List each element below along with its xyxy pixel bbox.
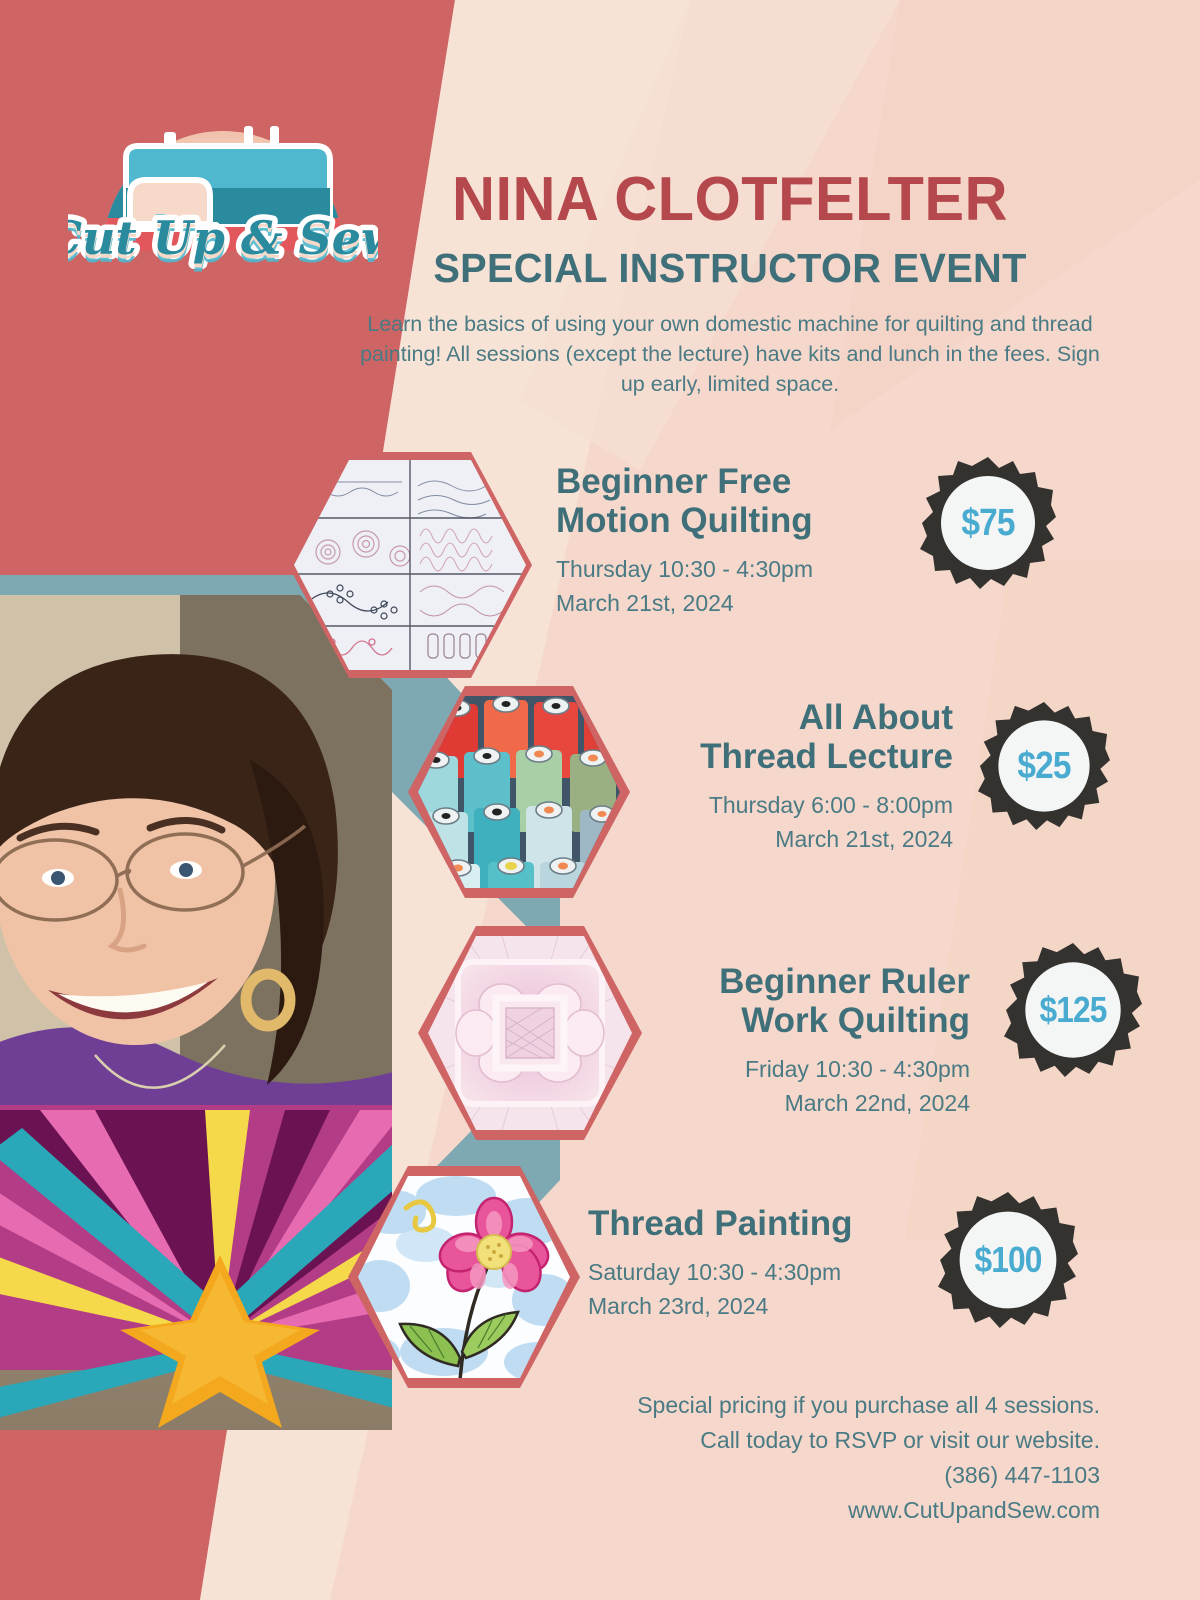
session-time: Friday 10:30 - 4:30pm xyxy=(672,1053,970,1086)
price-badge-1: $75 xyxy=(920,455,1056,591)
session-title: All About Thread Lecture xyxy=(648,698,953,776)
session-image-1 xyxy=(288,452,532,678)
session-block-3: Beginner Ruler Work Quilting Friday 10:3… xyxy=(672,962,970,1120)
session-block-2: All About Thread Lecture Thursday 6:00 -… xyxy=(648,698,953,856)
price-badge-3: $125 xyxy=(1004,941,1142,1079)
session-date: March 21st, 2024 xyxy=(556,587,813,620)
session-meta: Saturday 10:30 - 4:30pm March 23rd, 2024 xyxy=(588,1256,852,1323)
instructor-name: NINA CLOTFELTER xyxy=(346,168,1114,231)
session-image-4 xyxy=(348,1166,580,1388)
event-subtitle: SPECIAL INSTRUCTOR EVENT xyxy=(342,245,1118,292)
session-title: Thread Painting xyxy=(588,1204,852,1243)
session-title: Beginner Free Motion Quilting xyxy=(556,462,813,540)
session-meta: Thursday 6:00 - 8:00pm March 21st, 2024 xyxy=(648,789,953,856)
session-time: Thursday 10:30 - 4:30pm xyxy=(556,553,813,586)
session-time: Saturday 10:30 - 4:30pm xyxy=(588,1256,852,1289)
price-amount: $25 xyxy=(986,700,1102,832)
footer-phone[interactable]: (386) 447-1103 xyxy=(637,1458,1100,1493)
session-block-1: Beginner Free Motion Quilting Thursday 1… xyxy=(556,462,813,620)
session-date: March 22nd, 2024 xyxy=(672,1087,970,1120)
price-amount: $75 xyxy=(928,455,1048,591)
flyer-canvas: Cut Up & Sew Cut Up & Sew Cut Up & Sew C… xyxy=(0,0,1200,1600)
price-badge-4: $100 xyxy=(938,1190,1078,1330)
quilt-sampler-photo xyxy=(288,452,532,678)
price-amount: $100 xyxy=(946,1190,1069,1330)
footer-line-1: Special pricing if you purchase all 4 se… xyxy=(637,1388,1100,1423)
session-meta: Friday 10:30 - 4:30pm March 22nd, 2024 xyxy=(672,1053,970,1120)
session-image-2 xyxy=(408,686,630,898)
session-block-4: Thread Painting Saturday 10:30 - 4:30pm … xyxy=(588,1204,852,1323)
thread-spools-photo xyxy=(408,686,630,898)
session-date: March 21st, 2024 xyxy=(648,823,953,856)
thread-painted-flower-photo xyxy=(348,1166,580,1388)
event-description: Learn the basics of using your own domes… xyxy=(330,310,1130,399)
session-title: Beginner Ruler Work Quilting xyxy=(672,962,970,1040)
footer-contact: Special pricing if you purchase all 4 se… xyxy=(637,1388,1100,1528)
footer-website[interactable]: www.CutUpandSew.com xyxy=(637,1493,1100,1528)
footer-line-2: Call today to RSVP or visit our website. xyxy=(637,1423,1100,1458)
header-block: NINA CLOTFELTER SPECIAL INSTRUCTOR EVENT… xyxy=(330,168,1130,399)
session-time: Thursday 6:00 - 8:00pm xyxy=(648,789,953,822)
price-amount: $125 xyxy=(1012,941,1133,1079)
ruler-work-block-photo xyxy=(418,926,642,1140)
session-meta: Thursday 10:30 - 4:30pm March 21st, 2024 xyxy=(556,553,813,620)
session-date: March 23rd, 2024 xyxy=(588,1290,852,1323)
price-badge-2: $25 xyxy=(978,700,1110,832)
session-image-3 xyxy=(418,926,642,1140)
